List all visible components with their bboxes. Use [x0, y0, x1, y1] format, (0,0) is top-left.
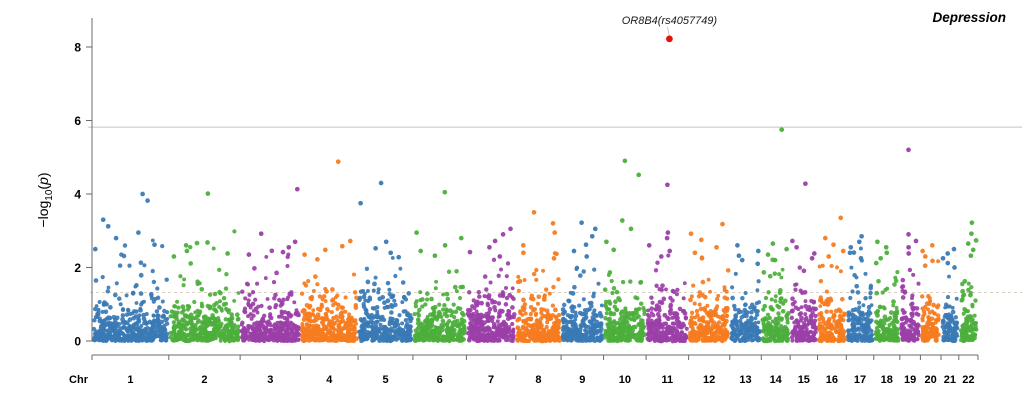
snp-peak-point	[735, 243, 740, 248]
snp-point	[428, 312, 432, 316]
snp-point	[152, 313, 156, 317]
snp-peak-point	[906, 245, 911, 250]
snp-point	[672, 326, 676, 330]
snp-point	[683, 281, 687, 285]
snp-point	[571, 326, 576, 331]
snp-point	[309, 313, 313, 317]
snp-point	[536, 302, 540, 306]
snp-point	[827, 320, 831, 324]
snp-point	[377, 329, 381, 333]
snp-point	[715, 329, 719, 333]
snp-peak-point	[700, 256, 705, 261]
snp-point	[246, 283, 250, 287]
snp-point	[172, 320, 176, 324]
snp-point	[333, 328, 337, 332]
snp-point	[613, 331, 617, 335]
snp-point	[151, 238, 155, 242]
snp-point	[386, 298, 391, 303]
snp-peak-point	[259, 231, 264, 236]
snp-point	[381, 335, 385, 339]
snp-point	[295, 333, 299, 337]
snp-point	[658, 300, 663, 305]
snp-point	[544, 287, 549, 292]
snp-point	[516, 280, 520, 284]
snp-point	[367, 333, 372, 338]
snp-point	[635, 296, 639, 300]
snp-point	[137, 313, 141, 317]
snp-point	[555, 329, 559, 333]
snp-point	[733, 307, 737, 311]
snp-point	[540, 338, 545, 343]
snp-point	[537, 295, 542, 300]
snp-point	[904, 334, 909, 339]
snp-point	[149, 292, 154, 297]
snp-point	[160, 328, 165, 333]
snp-point	[164, 338, 168, 342]
snp-point	[599, 323, 603, 327]
snp-point	[232, 338, 237, 343]
snp-point	[877, 336, 881, 340]
snp-point	[532, 328, 536, 332]
snp-point	[734, 322, 738, 326]
snp-point	[134, 314, 138, 318]
snp-point	[710, 327, 714, 331]
snp-point	[286, 264, 290, 268]
snp-point	[280, 311, 285, 316]
snp-point	[922, 309, 926, 313]
snp-peak-point	[442, 190, 447, 195]
snp-point	[314, 338, 318, 342]
snp-point	[490, 298, 494, 302]
snp-peak-point	[920, 249, 925, 254]
snp-point	[247, 324, 252, 329]
snp-point	[448, 331, 453, 336]
snp-point	[834, 309, 839, 314]
snp-point	[642, 312, 646, 316]
snp-point	[685, 327, 689, 331]
snp-point	[628, 329, 632, 333]
snp-point	[389, 295, 394, 300]
snp-point	[916, 282, 920, 286]
snp-point	[285, 297, 289, 301]
snp-point	[188, 245, 192, 249]
snp-point	[328, 320, 333, 325]
snp-point	[479, 313, 484, 318]
snp-point	[893, 320, 897, 324]
snp-point	[262, 314, 266, 318]
snp-point	[506, 261, 510, 265]
snp-point	[861, 303, 865, 307]
snp-point	[264, 326, 268, 330]
snp-point	[671, 334, 675, 338]
snp-point	[529, 305, 534, 310]
snp-point	[278, 321, 282, 325]
snp-point	[663, 332, 667, 336]
snp-point	[554, 323, 558, 327]
snp-point	[712, 313, 717, 318]
snp-point	[766, 313, 770, 317]
snp-point	[117, 296, 122, 301]
snp-point	[107, 286, 111, 290]
snp-point	[529, 317, 533, 321]
snp-point	[484, 338, 488, 342]
snp-point	[287, 313, 291, 317]
snp-point	[414, 338, 418, 342]
snp-point	[586, 325, 591, 330]
snp-point	[574, 311, 578, 315]
snp-point	[168, 314, 172, 318]
snp-point	[324, 315, 328, 319]
snp-point	[921, 318, 925, 322]
snp-point	[703, 336, 707, 340]
snp-peak-point	[841, 249, 846, 254]
snp-point	[475, 313, 479, 317]
snp-peak-point	[501, 232, 506, 237]
snp-point	[460, 311, 465, 316]
snp-point	[495, 338, 499, 342]
snp-point	[530, 293, 534, 297]
snp-point	[715, 325, 719, 329]
snp-point	[435, 337, 439, 341]
snp-point	[119, 252, 123, 256]
snp-point	[115, 281, 119, 285]
snp-point	[442, 303, 447, 308]
snp-point	[402, 295, 407, 300]
snp-point	[753, 316, 757, 320]
snp-point	[383, 306, 387, 310]
snp-point	[510, 322, 514, 326]
snp-point	[264, 255, 268, 259]
snp-point	[802, 332, 806, 336]
snp-point	[468, 308, 473, 313]
snp-point	[674, 311, 679, 316]
snp-point	[510, 305, 515, 310]
snp-point	[96, 310, 100, 314]
snp-peak-point	[508, 227, 513, 232]
snp-point	[859, 247, 863, 251]
snp-point	[774, 294, 778, 298]
snp-peak-point	[136, 230, 141, 235]
snp-point	[338, 315, 342, 319]
snp-point	[895, 306, 899, 310]
snp-point	[276, 333, 280, 337]
snp-point	[623, 309, 628, 314]
snp-point	[252, 309, 256, 313]
snp-point	[320, 303, 324, 307]
snp-point	[182, 283, 186, 287]
snp-point	[561, 307, 566, 312]
snp-point	[511, 286, 515, 290]
snp-point	[781, 268, 785, 272]
snp-point	[838, 330, 842, 334]
snp-point	[125, 293, 129, 297]
snp-point	[846, 314, 850, 318]
snp-point	[266, 297, 270, 301]
snp-peak-point	[790, 239, 795, 244]
snp-point	[370, 339, 374, 343]
snp-point	[255, 331, 259, 335]
snp-point	[358, 296, 362, 300]
snp-point	[564, 333, 568, 337]
snp-point	[825, 325, 829, 329]
snp-point	[597, 329, 602, 334]
snp-point	[404, 318, 408, 322]
snp-point	[812, 333, 816, 337]
snp-point	[553, 308, 558, 313]
snp-point	[454, 269, 459, 274]
snp-point	[189, 313, 194, 318]
snp-point	[776, 311, 780, 315]
snp-peak-point	[459, 236, 464, 241]
snp-point	[856, 290, 861, 295]
snp-point	[452, 302, 456, 306]
snp-point	[368, 295, 373, 300]
snp-point	[743, 308, 748, 313]
snp-point	[179, 328, 183, 332]
snp-point	[892, 282, 897, 287]
snp-point	[365, 267, 369, 271]
snp-peak-point	[826, 254, 831, 259]
snp-point	[517, 317, 521, 321]
snp-point	[824, 337, 828, 341]
snp-point	[779, 276, 783, 280]
snp-point	[677, 320, 681, 324]
snp-point	[675, 292, 679, 296]
snp-point	[507, 335, 511, 339]
snp-point	[545, 320, 549, 324]
snp-point	[943, 338, 947, 342]
snp-point	[489, 336, 493, 340]
snp-point	[798, 327, 802, 331]
snp-point	[445, 292, 450, 297]
snp-peak-point	[206, 191, 211, 196]
snp-point	[511, 297, 515, 301]
snp-peak-point	[281, 250, 286, 255]
snp-point	[611, 326, 615, 330]
snp-peak-point	[784, 247, 789, 252]
snp-point	[121, 308, 125, 312]
snp-point	[621, 280, 625, 284]
snp-point	[946, 295, 950, 299]
snp-point	[361, 335, 365, 339]
snp-point	[790, 335, 795, 340]
snp-point	[363, 299, 367, 303]
snp-point	[200, 304, 205, 309]
snp-point	[667, 337, 671, 341]
snp-point	[819, 339, 823, 343]
snp-peak-point	[584, 242, 589, 247]
snp-point	[839, 269, 843, 273]
snp-point	[389, 326, 394, 331]
snp-point	[420, 322, 425, 327]
snp-point	[757, 329, 761, 333]
snp-point	[162, 309, 166, 313]
snp-point	[941, 325, 945, 329]
snp-point	[707, 278, 711, 282]
snp-peak-point	[945, 261, 950, 266]
snp-point	[414, 304, 418, 308]
snp-point	[164, 335, 168, 339]
snp-point	[910, 306, 914, 310]
snp-point	[98, 317, 102, 321]
snp-point	[733, 338, 737, 342]
snp-point	[156, 318, 160, 322]
snp-point	[223, 337, 227, 341]
snp-point	[654, 307, 658, 311]
snp-point	[232, 229, 236, 233]
snp-point	[317, 331, 322, 336]
snp-peak-point	[493, 239, 498, 244]
snp-peak-point	[714, 245, 719, 250]
snp-point	[392, 299, 396, 303]
snp-point	[545, 325, 549, 329]
snp-point	[518, 309, 522, 313]
snp-point	[578, 273, 583, 278]
snp-point	[482, 294, 486, 298]
snp-point	[673, 338, 678, 343]
snp-peak-point	[755, 261, 760, 266]
snp-point	[647, 338, 651, 342]
snp-point	[910, 327, 915, 332]
snp-peak-point	[323, 248, 328, 253]
snp-point	[256, 305, 260, 309]
snp-point	[289, 321, 293, 325]
snp-point	[145, 312, 149, 316]
snp-point	[762, 304, 767, 309]
snp-point	[893, 311, 897, 315]
snp-point	[548, 292, 552, 296]
snp-peak-point	[532, 210, 537, 215]
snp-point	[361, 328, 366, 333]
snp-point	[662, 322, 667, 327]
snp-point	[414, 328, 419, 333]
snp-point	[584, 329, 588, 333]
snp-point	[895, 336, 900, 341]
snp-point	[762, 337, 767, 342]
snp-point	[694, 336, 698, 340]
snp-point	[672, 322, 676, 326]
snp-point	[434, 286, 438, 290]
snp-point	[915, 306, 920, 311]
snp-point	[352, 272, 356, 276]
snp-point	[639, 301, 644, 306]
snp-point	[268, 312, 272, 316]
snp-point	[699, 333, 703, 337]
snp-point	[212, 247, 216, 251]
snp-point	[769, 327, 773, 331]
snp-point	[204, 338, 208, 342]
snp-point	[702, 306, 707, 311]
snp-point	[708, 290, 712, 294]
snp-point	[853, 332, 857, 336]
snp-point	[272, 296, 277, 301]
snp-point	[326, 309, 330, 313]
snp-point	[951, 335, 955, 339]
snp-point	[222, 296, 227, 301]
snp-point	[106, 315, 110, 319]
snp-point	[829, 264, 833, 268]
snp-point	[883, 328, 888, 333]
snp-point	[208, 323, 212, 327]
snp-point	[874, 330, 878, 334]
snp-peak-point	[443, 243, 448, 248]
snp-point	[824, 309, 829, 314]
snp-peak-point	[665, 236, 670, 241]
snp-point	[321, 297, 325, 301]
snp-point	[651, 324, 655, 328]
snp-point	[647, 333, 651, 337]
snp-peak-point	[699, 238, 704, 243]
snp-point	[818, 265, 822, 269]
snp-peak-point	[205, 240, 210, 245]
snp-point	[973, 298, 977, 302]
snp-peak-point	[803, 181, 808, 186]
snp-point	[616, 326, 620, 330]
snp-peak-point	[923, 263, 928, 268]
snp-point	[639, 318, 643, 322]
snp-point	[189, 336, 193, 340]
snp-point	[726, 268, 731, 273]
snp-point	[100, 337, 104, 341]
snp-point	[855, 338, 860, 343]
snp-point	[184, 327, 189, 332]
snp-point	[791, 329, 795, 333]
snp-point	[568, 320, 572, 324]
snp-point	[425, 318, 429, 322]
snp-point	[768, 274, 773, 279]
snp-point	[391, 334, 396, 339]
snp-point	[199, 325, 203, 329]
snp-point	[596, 282, 600, 286]
snp-point	[811, 306, 816, 311]
snp-peak-point	[945, 251, 950, 256]
snp-point	[330, 310, 334, 314]
snp-point	[330, 287, 335, 292]
snp-point	[131, 291, 135, 295]
snp-point	[423, 334, 427, 338]
snp-point	[461, 337, 466, 342]
snp-point	[734, 272, 738, 276]
snp-point	[675, 316, 680, 321]
snp-point	[405, 312, 410, 317]
snp-peak-point	[551, 221, 556, 226]
snp-point	[156, 296, 160, 300]
snp-point	[393, 274, 397, 278]
snp-point	[853, 324, 857, 328]
snp-point	[795, 338, 799, 342]
snp-point	[501, 290, 505, 294]
snp-point	[857, 301, 861, 305]
snp-point	[926, 307, 930, 311]
snp-point	[362, 317, 367, 322]
snp-point	[900, 322, 905, 327]
snp-peak-point	[906, 148, 911, 153]
snp-point	[650, 301, 654, 305]
snp-point	[110, 338, 115, 343]
snp-peak-point	[737, 253, 742, 258]
snp-point	[883, 332, 887, 336]
snp-point	[749, 310, 754, 315]
snp-point	[187, 304, 191, 308]
snp-point	[578, 311, 583, 316]
snp-point	[611, 334, 616, 339]
snp-point	[802, 325, 806, 329]
snp-point	[863, 272, 867, 276]
snp-point	[579, 325, 583, 329]
snp-point	[577, 304, 581, 308]
snp-peak-point	[838, 216, 843, 221]
snp-point	[466, 331, 470, 335]
